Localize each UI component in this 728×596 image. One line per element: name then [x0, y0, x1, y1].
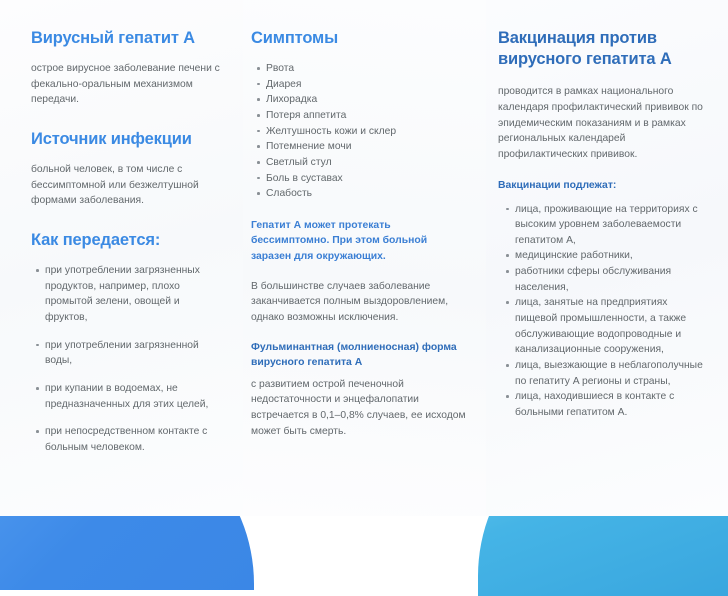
column-vaccination: Вакцинация против вирусного гепатита A п… — [486, 0, 728, 516]
section-heading-vaccination: Вакцинация против вирусного гепатита A — [498, 28, 710, 70]
list-item: Рвота — [266, 61, 470, 77]
list-item: лица, находившиеся в контакте с больными… — [515, 389, 710, 420]
fulminant-heading: Фульминантная (молниеносная) форма вирус… — [251, 340, 470, 371]
eligible-heading: Вакцинации подлежат: — [498, 178, 710, 193]
list-item: при употреблении загрязненной воды, — [45, 338, 221, 369]
eligible-list: лица, проживающие на территориях с высок… — [498, 202, 710, 421]
list-item: работники сферы обслуживания населения, — [515, 264, 710, 295]
section-heading-transmission: Как передается: — [31, 230, 221, 251]
fulminant-text: с развитием острой печеночной недостаточ… — [251, 377, 470, 440]
infection-source-text: больной человек, в том числе с бессимпто… — [31, 162, 221, 209]
list-item: при непосредственном контакте с больным … — [45, 424, 221, 455]
list-item: при купании в водоемах, не предназначенн… — [45, 381, 221, 412]
list-item: лица, занятые на предприятиях пищевой пр… — [515, 295, 710, 358]
intro-paragraph: острое вирусное заболевание печени с фек… — [31, 61, 221, 108]
column-overview: Вирусный гепатит A острое вирусное забол… — [0, 0, 243, 516]
list-item: лица, выезжающие в неблагополучные по ге… — [515, 358, 710, 389]
content-columns: Вирусный гепатит A острое вирусное забол… — [0, 0, 728, 516]
list-item: Слабость — [266, 186, 470, 202]
list-item: Потемнение мочи — [266, 139, 470, 155]
list-item: лица, проживающие на территориях с высок… — [515, 202, 710, 249]
list-item: Боль в суставах — [266, 171, 470, 187]
list-item: Светлый стул — [266, 155, 470, 171]
list-item: при употреблении загрязненных продуктов,… — [45, 263, 221, 326]
list-item: Желтушность кожи и склер — [266, 124, 470, 140]
section-heading-infection-source: Источник инфекции — [31, 129, 221, 150]
list-item: Лихорадка — [266, 92, 470, 108]
outcome-text: В большинстве случаев заболевание заканч… — [251, 279, 470, 326]
page-title: Вирусный гепатит A — [31, 28, 221, 49]
list-item: Потеря аппетита — [266, 108, 470, 124]
asymptomatic-warning: Гепатит А может протекать бессимптомно. … — [251, 218, 470, 265]
poster-canvas: A — [0, 0, 728, 516]
list-item: Диарея — [266, 77, 470, 93]
column-symptoms: Симптомы Рвота Диарея Лихорадка Потеря а… — [243, 0, 486, 516]
section-heading-symptoms: Симптомы — [251, 28, 470, 49]
list-item: медицинские работники, — [515, 248, 710, 264]
symptoms-list: Рвота Диарея Лихорадка Потеря аппетита Ж… — [251, 61, 470, 202]
transmission-list: при употреблении загрязненных продуктов,… — [31, 263, 221, 455]
vaccination-intro: проводится в рамках национального календ… — [498, 84, 710, 162]
